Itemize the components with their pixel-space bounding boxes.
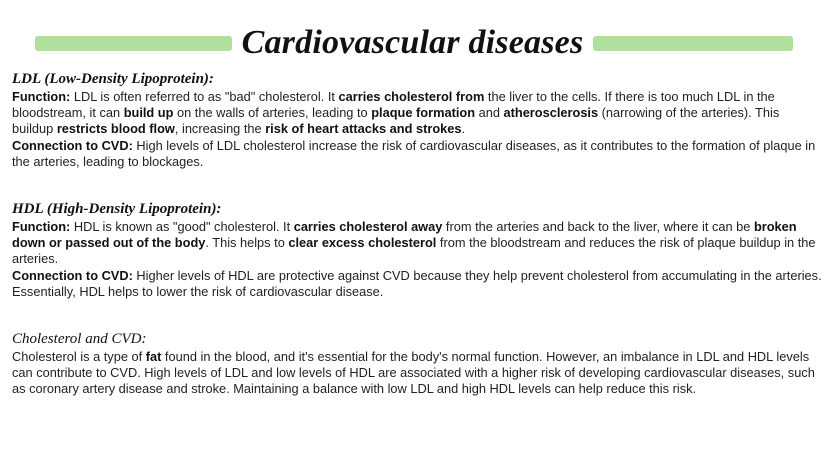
body-text: LDL is often referred to as "bad" choles… [70, 89, 338, 104]
page-title: Cardiovascular diseases [242, 24, 584, 62]
emphasis-text: plaque formation [371, 105, 475, 120]
body-text: HDL is known as "good" cholesterol. It [70, 219, 293, 234]
body-text: High levels of LDL cholesterol increase … [12, 138, 815, 169]
body-text: , increasing the [175, 121, 265, 136]
emphasis-text: Connection to CVD: [12, 138, 133, 153]
emphasis-text: clear excess cholesterol [288, 235, 436, 250]
section-hdl: HDL (High-Density Lipoprotein):Function:… [12, 200, 824, 300]
document-page: Cardiovascular diseases LDL (Low-Density… [0, 0, 828, 466]
emphasis-text: Function: [12, 89, 70, 104]
page-title-row: Cardiovascular diseases [0, 20, 828, 66]
emphasis-text: restricts blood flow [57, 121, 175, 136]
paragraph-hdl-function: Function: HDL is known as "good" cholest… [12, 219, 824, 268]
emphasis-text: Connection to CVD: [12, 268, 133, 283]
body-text: and [475, 105, 503, 120]
emphasis-text: Function: [12, 219, 70, 234]
title-accent-bar-right [593, 36, 793, 51]
paragraph-ldl-function: Function: LDL is often referred to as "b… [12, 89, 824, 138]
body-text: Higher levels of HDL are protective agai… [12, 268, 822, 299]
body-text: . [462, 121, 466, 136]
paragraph-cholesterol-cvd-body: Cholesterol is a type of fat found in th… [12, 349, 824, 398]
section-heading-hdl: HDL (High-Density Lipoprotein): [12, 200, 824, 218]
emphasis-text: fat [146, 349, 162, 364]
document-body: LDL (Low-Density Lipoprotein):Function: … [12, 70, 824, 398]
body-text: Cholesterol is a type of [12, 349, 146, 364]
emphasis-text: carries cholesterol away [294, 219, 443, 234]
emphasis-text: atherosclerosis [504, 105, 599, 120]
section-heading-ldl: LDL (Low-Density Lipoprotein): [12, 70, 824, 88]
body-text: . This helps to [205, 235, 288, 250]
paragraph-hdl-connection: Connection to CVD: Higher levels of HDL … [12, 268, 824, 300]
emphasis-text: risk of heart attacks and strokes [265, 121, 461, 136]
title-accent-bar-left [35, 36, 232, 51]
section-ldl: LDL (Low-Density Lipoprotein):Function: … [12, 70, 824, 170]
emphasis-text: carries cholesterol from [339, 89, 485, 104]
emphasis-text: build up [124, 105, 174, 120]
body-text: from the arteries and back to the liver,… [442, 219, 754, 234]
section-cholesterol-cvd: Cholesterol and CVD:Cholesterol is a typ… [12, 330, 824, 398]
paragraph-ldl-connection: Connection to CVD: High levels of LDL ch… [12, 138, 824, 170]
body-text: on the walls of arteries, leading to [173, 105, 371, 120]
section-heading-cholesterol-cvd: Cholesterol and CVD: [12, 330, 824, 348]
